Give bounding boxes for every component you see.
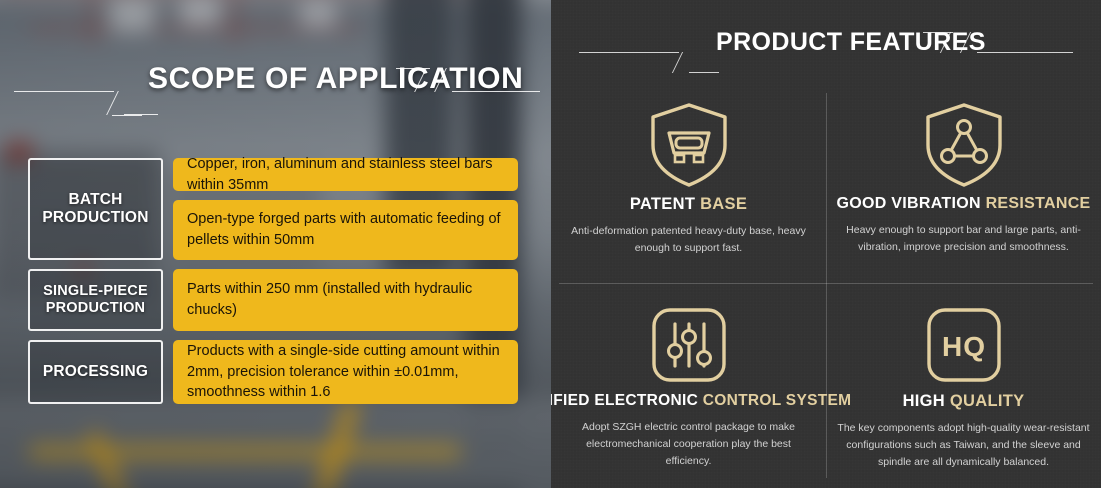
scope-of-application-panel: SCOPE OF APPLICATION BATCH PRODUCTION Co… <box>0 0 551 488</box>
title-rule-left <box>14 91 114 92</box>
description-column: Copper, iron, aluminum and stainless ste… <box>173 158 518 260</box>
description-column: Products with a single-side cutting amou… <box>173 340 518 404</box>
sliders-control-icon <box>650 302 728 388</box>
features-grid: PATENT BASE Anti-deformation patented he… <box>551 85 1101 483</box>
scope-title-group: SCOPE OF APPLICATION <box>0 62 551 120</box>
features-title-group: PRODUCT FEATURES <box>551 28 1101 68</box>
feature-title-primary: GOOD VIBRATION <box>836 195 980 212</box>
title-slash-left-tail <box>124 114 158 115</box>
feature-title-primary: PATENT <box>630 195 695 213</box>
feature-title: PATENT BASE <box>630 195 747 214</box>
feature-description: Heavy enough to support bar and large pa… <box>838 222 1090 256</box>
category-label-line2: PRODUCTION <box>42 209 148 226</box>
feature-title-accent: BASE <box>700 195 747 213</box>
feature-title: UNIFIED ELECTRONIC CONTROL SYSTEM <box>551 392 851 410</box>
title-rule-right <box>977 52 1073 53</box>
category-label-line2: PRODUCTION <box>46 300 145 316</box>
title-rule-right <box>452 91 540 92</box>
title-slash-left-foot <box>112 115 142 116</box>
feature-description: Adopt SZGH electric control package to m… <box>563 419 815 470</box>
feature-card-good-vibration-resistance[interactable]: GOOD VIBRATION RESISTANCE Heavy enough t… <box>826 85 1101 283</box>
description-box: Parts within 250 mm (installed with hydr… <box>173 269 518 331</box>
feature-description: The key components adopt high-quality we… <box>833 420 1095 471</box>
description-box: Open-type forged parts with automatic fe… <box>173 200 518 260</box>
feature-title-accent: QUALITY <box>950 392 1025 410</box>
feature-title-primary: UNIFIED ELECTRONIC <box>551 392 698 409</box>
shield-base-icon <box>647 99 731 191</box>
product-infographic: SCOPE OF APPLICATION BATCH PRODUCTION Co… <box>0 0 1101 488</box>
feature-card-unified-electronic-control-system[interactable]: UNIFIED ELECTRONIC CONTROL SYSTEM Adopt … <box>551 284 826 482</box>
feature-card-high-quality[interactable]: HQ HIGH QUALITY The key components adopt… <box>826 284 1101 482</box>
scope-row: PROCESSING Products with a single-side c… <box>0 340 551 404</box>
feature-card-patent-base[interactable]: PATENT BASE Anti-deformation patented he… <box>551 85 826 283</box>
title-rule-left <box>579 52 679 53</box>
description-box: Copper, iron, aluminum and stainless ste… <box>173 158 518 191</box>
category-box-processing[interactable]: PROCESSING <box>28 340 163 404</box>
category-box-batch-production[interactable]: BATCH PRODUCTION <box>28 158 163 260</box>
hq-badge-icon: HQ <box>925 302 1003 388</box>
feature-title: GOOD VIBRATION RESISTANCE <box>836 195 1090 213</box>
scope-row: SINGLE-PIECE PRODUCTION Parts within 250… <box>0 269 551 331</box>
title-slash-left <box>106 91 148 115</box>
feature-title-accent: RESISTANCE <box>986 195 1091 212</box>
shield-vibration-icon <box>922 99 1006 191</box>
feature-description: Anti-deformation patented heavy-duty bas… <box>563 223 815 257</box>
description-box: Products with a single-side cutting amou… <box>173 340 518 404</box>
category-box-single-piece-production[interactable]: SINGLE-PIECE PRODUCTION <box>28 269 163 331</box>
svg-text:HQ: HQ <box>942 331 986 362</box>
category-label-line1: PROCESSING <box>43 363 148 381</box>
title-slash-left-tail <box>689 72 719 73</box>
description-column: Parts within 250 mm (installed with hydr… <box>173 269 518 331</box>
category-label-line1: SINGLE-PIECE <box>43 283 148 299</box>
category-label-line1: BATCH <box>68 191 122 208</box>
feature-title-primary: HIGH <box>903 392 945 410</box>
product-features-panel: PRODUCT FEATURES <box>551 0 1101 488</box>
feature-title: HIGH QUALITY <box>903 392 1025 411</box>
scope-rows: BATCH PRODUCTION Copper, iron, aluminum … <box>0 158 551 413</box>
scope-row: BATCH PRODUCTION Copper, iron, aluminum … <box>0 158 551 260</box>
